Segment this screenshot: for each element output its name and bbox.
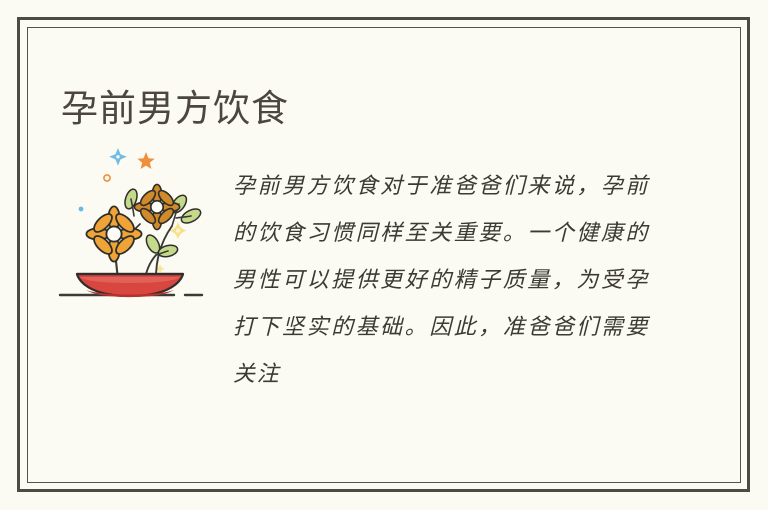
- page-title: 孕前男方饮食: [61, 87, 289, 131]
- article-body-text: 孕前男方饮食对于准爸爸们来说，孕前的饮食习惯同样至关重要。一个健康的男性可以提供…: [233, 163, 649, 398]
- potted-flowers-illustration: [56, 138, 226, 310]
- article-card: 孕前男方饮食: [0, 0, 768, 510]
- flower-bowl: [77, 274, 183, 297]
